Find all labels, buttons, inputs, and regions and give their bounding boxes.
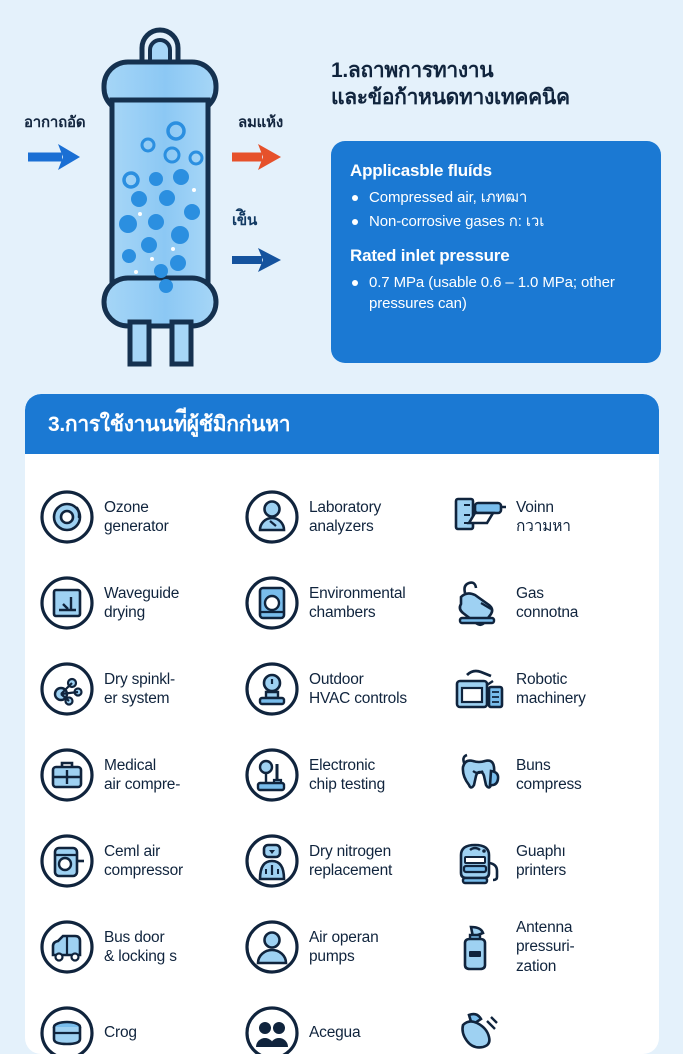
diagram-label-drain: เข็ิน (232, 208, 257, 232)
list-item: Compressed air, เภทฒา (350, 188, 642, 209)
application-label: Air operanpumps (309, 928, 379, 967)
application-item[interactable]: Waveguidedrying (39, 560, 244, 646)
application-item[interactable]: Ozonegenerator (39, 474, 244, 560)
spec-title-fluids: Applicasble fluíds (350, 161, 642, 181)
application-label: Ceml aircompressor (104, 842, 183, 881)
application-item[interactable]: Antennapressuri-zation (451, 904, 651, 990)
bullet-icon (352, 280, 358, 286)
outdoor-hvac-icon (244, 661, 300, 717)
air-dryer-diagram: อากาถอัด ลมแห้ง เข็ิน (0, 0, 320, 385)
list-item-label: Compressed air, เภทฒา (369, 189, 527, 206)
application-label: Antennapressuri-zation (516, 918, 575, 976)
electronic-chip-testing-icon (244, 747, 300, 803)
section1-heading-line2: และข้อก้าหนดทางเทคคนิค (331, 85, 671, 112)
bus-door-icon (39, 919, 95, 975)
application-item[interactable]: Crog (39, 990, 244, 1054)
application-item[interactable]: Gasconnotna (451, 560, 651, 646)
application-label: Dry nitrogenreplacement (309, 842, 392, 881)
application-label: Electronicchip testing (309, 756, 385, 795)
arrow-right-icon (232, 248, 281, 272)
application-item[interactable]: Roboticmachinery (451, 646, 651, 732)
central-air-compressor-icon (39, 833, 95, 889)
applications-header-title: 3.การใช้งานนท่ีผู้ช้มิกก่นหา (48, 408, 290, 441)
arrow-right-icon (28, 144, 80, 170)
spray-nozzle-icon (451, 1005, 507, 1054)
application-item[interactable]: Electronicchip testing (244, 732, 451, 818)
application-item[interactable]: Dry spinkl-er system (39, 646, 244, 732)
medical-air-compressor-icon (39, 747, 95, 803)
diagram-label-outlet: ลมแห้ง (238, 110, 283, 134)
air-operated-pump-icon (244, 919, 300, 975)
application-label: Guaphıprinters (516, 842, 566, 881)
gas-connection-icon (451, 575, 507, 631)
application-label: Waveguidedrying (104, 584, 179, 623)
application-label: Laboratoryanalyzers (309, 498, 381, 537)
acequa-people-icon (244, 1005, 300, 1054)
list-item: Non-corrosive gases ก: เวเ (350, 212, 642, 233)
crog-tank-icon (39, 1005, 95, 1054)
application-label: Dry spinkl-er system (104, 670, 175, 709)
application-item[interactable]: Bunscompress (451, 732, 651, 818)
application-label: Voinnกวามหา (516, 498, 571, 537)
application-label: Gasconnotna (516, 584, 578, 623)
application-label: Bus door& locking s (104, 928, 177, 967)
application-label: OutdoorHVAC controls (309, 670, 407, 709)
application-item[interactable]: Medicalair compre- (39, 732, 244, 818)
application-item[interactable]: Acegua (244, 990, 451, 1054)
application-label: Bunscompress (516, 756, 582, 795)
application-label: Ozonegenerator (104, 498, 169, 537)
dental-tooth-icon (451, 747, 507, 803)
overview-section: อากาถอัด ลมแห้ง เข็ิน 1.ลถาพการทางาน และ… (0, 0, 683, 385)
application-item[interactable]: Bus door& locking s (39, 904, 244, 990)
arrow-right-icon (232, 144, 281, 170)
applications-grid: OzonegeneratorLaboratoryanalyzersVoinnกว… (25, 454, 659, 1054)
diagram-label-inlet: อากาถอัด (24, 110, 85, 134)
application-label: Roboticmachinery (516, 670, 586, 709)
application-label: Medicalair compre- (104, 756, 180, 795)
application-item[interactable]: Voinnกวามหา (451, 474, 651, 560)
list-item-label: 0.7 MPa (usable 0.6 – 1.0 MPa; other pre… (369, 274, 615, 312)
application-item[interactable]: Dry nitrogenreplacement (244, 818, 451, 904)
dry-nitrogen-icon (244, 833, 300, 889)
application-label: Acegua (309, 1023, 360, 1042)
application-item[interactable]: Guaphıprinters (451, 818, 651, 904)
waveguide-drying-icon (39, 575, 95, 631)
bullet-icon (352, 195, 358, 201)
list-item-label: Non-corrosive gases ก: เวเ (369, 213, 544, 230)
section1-heading-line1: 1.ลถาพการทางาน (331, 58, 671, 85)
list-item: 0.7 MPa (usable 0.6 – 1.0 MPa; other pre… (350, 273, 642, 314)
bullet-icon (352, 219, 358, 225)
environmental-chamber-icon (244, 575, 300, 631)
air-dryer-tank-icon (0, 0, 320, 385)
application-item[interactable]: Laboratoryanalyzers (244, 474, 451, 560)
fluids-list: Compressed air, เภทฒา Non-corrosive gase… (350, 188, 642, 232)
ozone-generator-icon (39, 489, 95, 545)
applications-header: 3.การใช้งานนท่ีผู้ช้มิกก่นหา (25, 394, 659, 454)
graphic-printer-icon (451, 833, 507, 889)
dry-sprinkler-icon (39, 661, 95, 717)
application-item[interactable]: OutdoorHVAC controls (244, 646, 451, 732)
application-item[interactable] (451, 990, 651, 1054)
antenna-spray-icon (451, 919, 507, 975)
spec-title-pressure: Rated inlet pressure (350, 246, 642, 266)
application-item[interactable]: Air operanpumps (244, 904, 451, 990)
application-label: Crog (104, 1023, 137, 1042)
thai-measurement-icon (451, 489, 507, 545)
laboratory-analyzer-icon (244, 489, 300, 545)
section1-heading: 1.ลถาพการทางาน และข้อก้าหนดทางเทคคนิค (331, 58, 671, 111)
specifications-card: Applicasble fluíds Compressed air, เภทฒา… (331, 141, 661, 363)
application-item[interactable]: Ceml aircompressor (39, 818, 244, 904)
application-label: Environmentalchambers (309, 584, 405, 623)
robotic-machinery-icon (451, 661, 507, 717)
pressure-list: 0.7 MPa (usable 0.6 – 1.0 MPa; other pre… (350, 273, 642, 314)
application-item[interactable]: Environmentalchambers (244, 560, 451, 646)
applications-panel: 3.การใช้งานนท่ีผู้ช้มิกก่นหา Ozonegenera… (25, 394, 659, 1054)
